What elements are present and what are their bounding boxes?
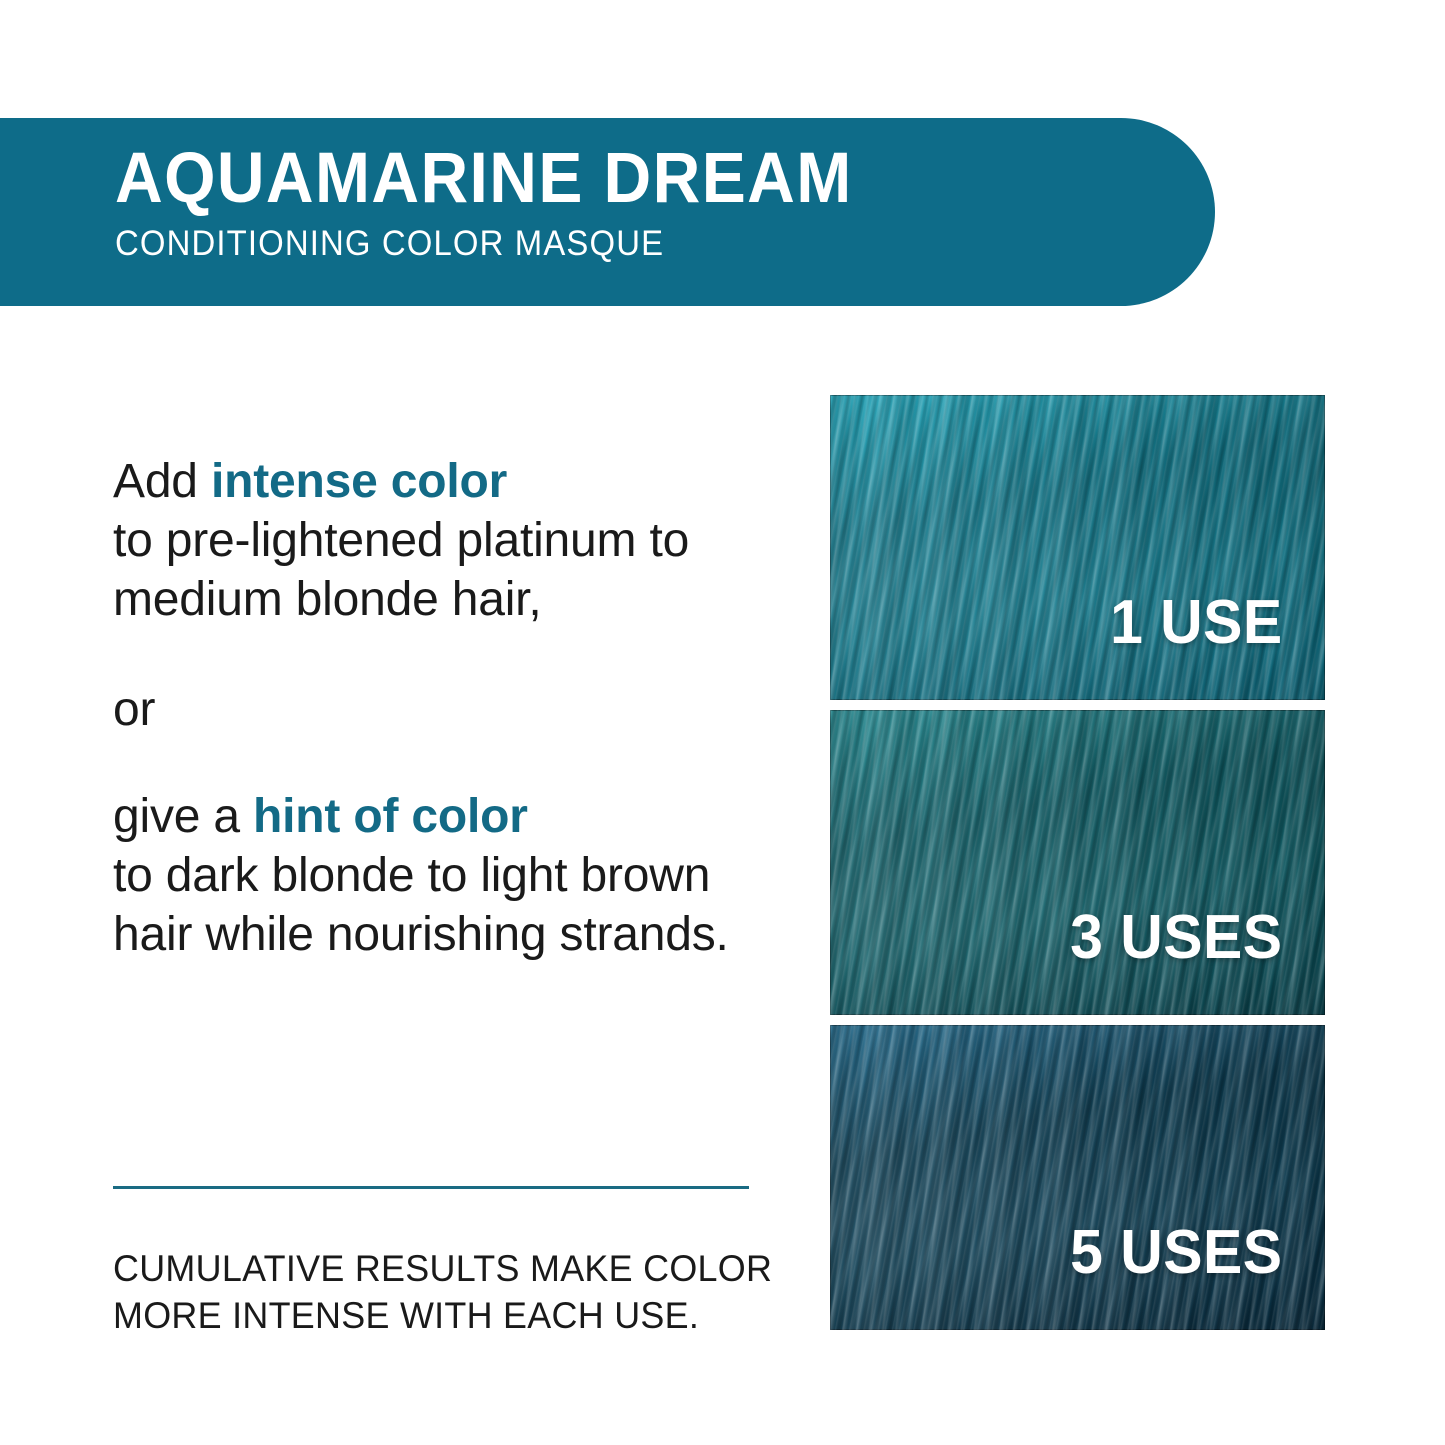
paragraph-2-accent: hint of color xyxy=(253,790,528,843)
header-text-group: AQUAMARINE DREAM CONDITIONING COLOR MASQ… xyxy=(115,140,908,266)
paragraph-connector: or xyxy=(113,680,793,739)
page-title: AQUAMARINE DREAM xyxy=(115,140,853,218)
swatch-label-1-use: 1 USE xyxy=(1110,592,1283,654)
hair-swatch-3-uses: 3 USES xyxy=(830,710,1325,1015)
paragraph-2-rest: to dark blonde to light brown hair while… xyxy=(113,849,729,961)
hair-swatch-stack: 1 USE 3 USES 5 USES xyxy=(830,395,1325,1330)
swatch-label-5-uses: 5 USES xyxy=(1071,1222,1283,1284)
paragraph-1-rest: to pre-lightened platinum to medium blon… xyxy=(113,514,689,626)
paragraph-1-lead: Add xyxy=(113,455,211,508)
section-divider xyxy=(113,1186,749,1189)
cumulative-results-note: CUMULATIVE RESULTS MAKE COLOR MORE INTEN… xyxy=(113,1245,792,1339)
connector-text: or xyxy=(113,683,155,736)
paragraph-spacer-2 xyxy=(113,739,793,787)
hair-swatch-5-uses: 5 USES xyxy=(830,1025,1325,1330)
header-banner: AQUAMARINE DREAM CONDITIONING COLOR MASQ… xyxy=(0,118,1215,306)
paragraph-hint-of-color: give a hint of color to dark blonde to l… xyxy=(113,787,793,964)
paragraph-2-lead: give a xyxy=(113,790,253,843)
hair-swatch-1-use: 1 USE xyxy=(830,395,1325,700)
paragraph-spacer-1 xyxy=(113,629,793,680)
description-column: Add intense color to pre-lightened plati… xyxy=(113,452,793,964)
page-subtitle: CONDITIONING COLOR MASQUE xyxy=(115,222,861,266)
paragraph-1-accent: intense color xyxy=(211,455,507,508)
paragraph-intense-color: Add intense color to pre-lightened plati… xyxy=(113,452,793,629)
swatch-label-3-uses: 3 USES xyxy=(1071,907,1283,969)
